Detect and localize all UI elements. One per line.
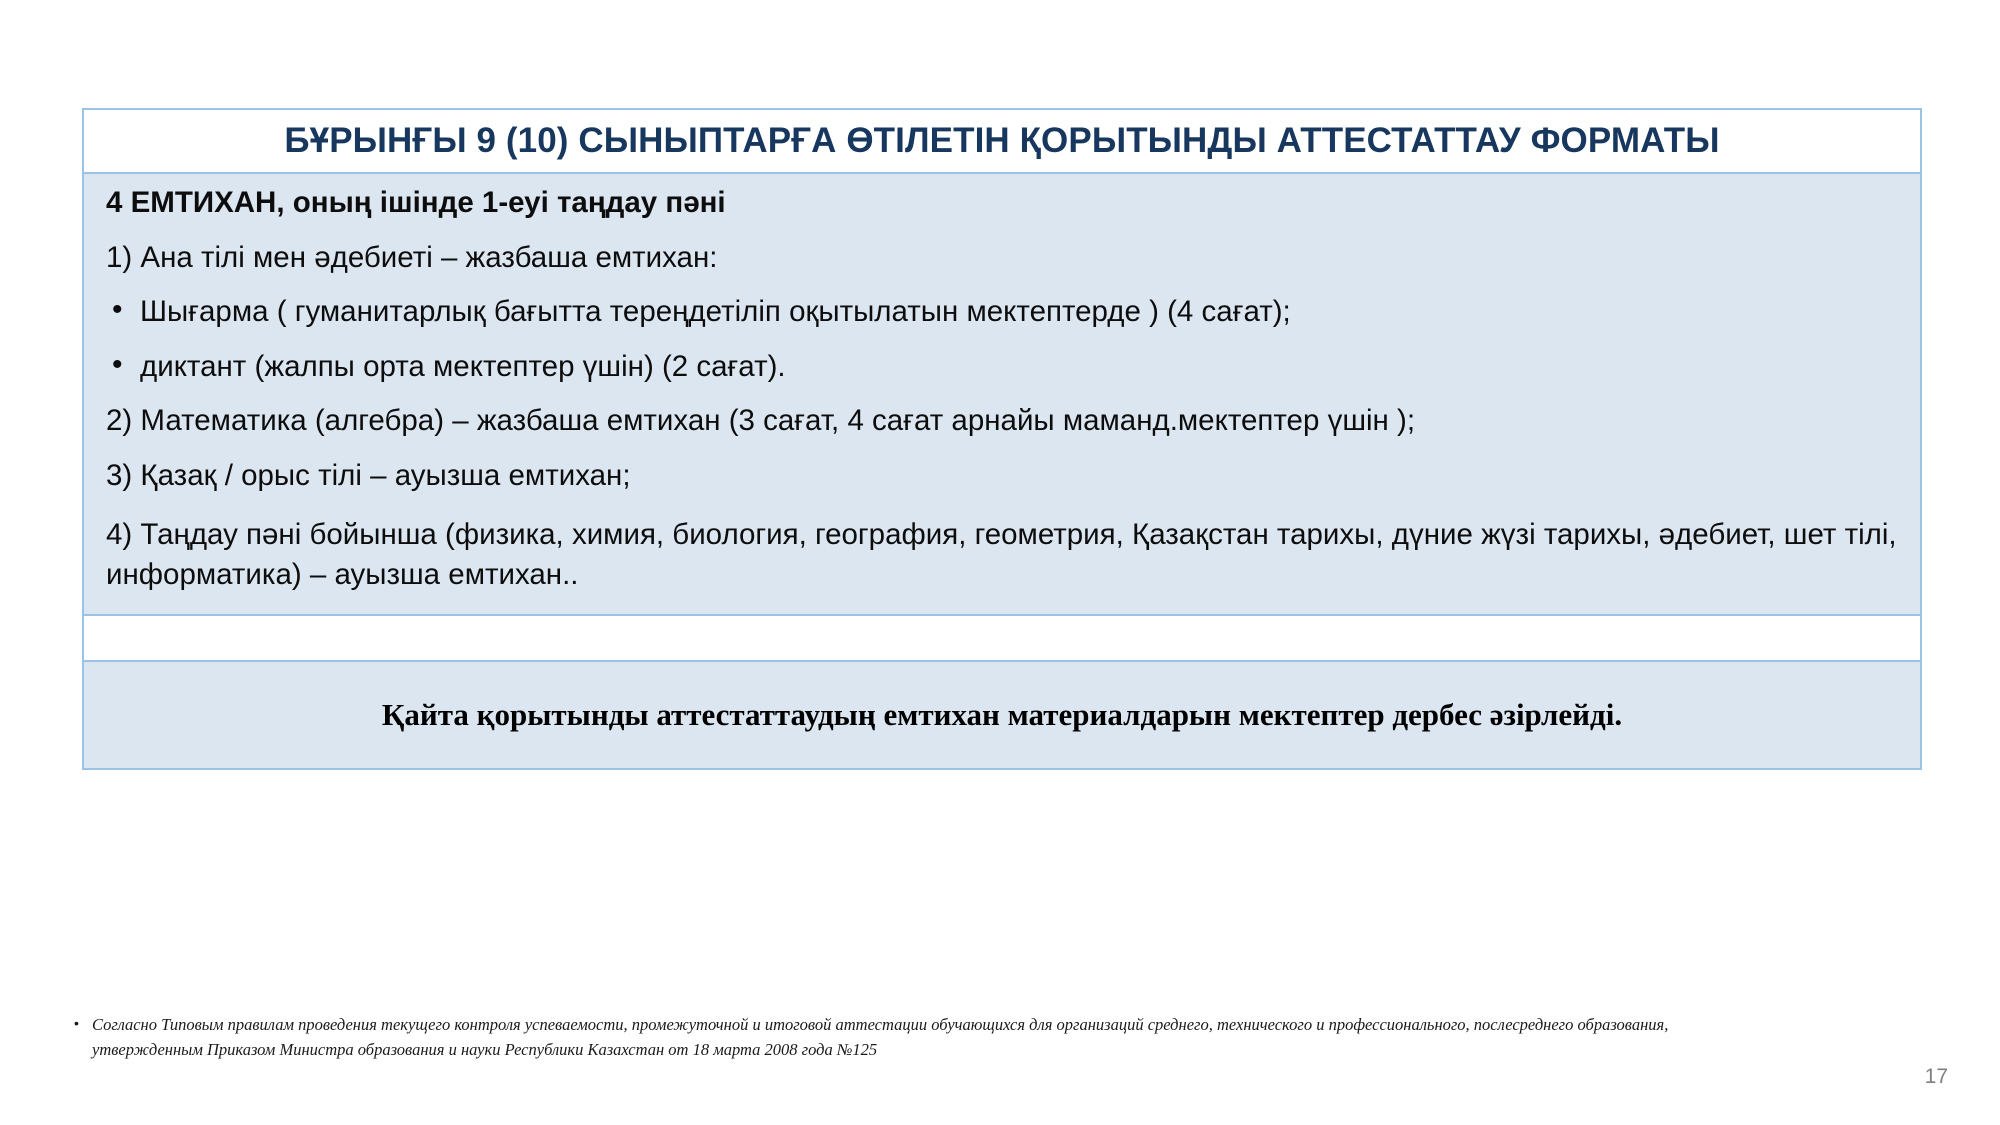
body-bullet-1-label: Шығарма ( гуманитарлық бағытта тереңдеті… [140, 295, 1291, 328]
body-item-1: 1) Ана тілі мен әдебиеті – жазбаша емтих… [106, 243, 1898, 273]
table-row-body: 4 ЕМТИХАН, оның ішінде 1-еуі таңдау пәні… [82, 174, 1922, 616]
body-bullet-2-label: диктант (жалпы орта мектептер үшін) (2 с… [140, 350, 786, 383]
footer-cell: Қайта қорытынды аттестаттаудың емтихан м… [82, 662, 1922, 770]
table-row-footer: Қайта қорытынды аттестаттаудың емтихан м… [82, 662, 1922, 770]
body-bullet-1: • Шығарма ( гуманитарлық бағытта тереңде… [106, 297, 1898, 327]
bullet-dot-icon: • [112, 295, 123, 325]
footnote-line-2: утвержденным Приказом Министра образован… [74, 1037, 1934, 1062]
body-heading: 4 ЕМТИХАН, оның ішінде 1-еуі таңдау пәні [106, 188, 1898, 218]
body-item-4: 4) Таңдау пәні бойынша (физика, химия, б… [106, 515, 1898, 594]
body-item-2: 2) Математика (алгебра) – жазбаша емтиха… [106, 406, 1898, 436]
spacer-cell [82, 616, 1922, 662]
page-number: 17 [1925, 1065, 1948, 1089]
footer-note: Қайта қорытынды аттестаттаудың емтихан м… [85, 698, 1919, 732]
footnote-line-1: Согласно Типовым правилам проведения тек… [74, 1012, 1934, 1037]
table-row-spacer [82, 616, 1922, 662]
title-cell: БҰРЫНҒЫ 9 (10) СЫНЫПТАРҒА ӨТІЛЕТІН ҚОРЫТ… [82, 108, 1922, 174]
body-cell: 4 ЕМТИХАН, оның ішінде 1-еуі таңдау пәні… [82, 174, 1922, 616]
page-title: БҰРЫНҒЫ 9 (10) СЫНЫПТАРҒА ӨТІЛЕТІН ҚОРЫТ… [85, 123, 1919, 160]
attestation-format-table: БҰРЫНҒЫ 9 (10) СЫНЫПТАРҒА ӨТІЛЕТІН ҚОРЫТ… [82, 108, 1922, 770]
footnote: • Согласно Типовым правилам проведения т… [74, 1012, 1934, 1062]
footnote-bullet-icon: • [74, 1013, 79, 1034]
body-item-3: 3) Қазақ / орыс тілі – ауызша емтихан; [106, 461, 1898, 491]
body-bullet-2: • диктант (жалпы орта мектептер үшін) (2… [106, 352, 1898, 382]
slide-canvas: { "slide": { "title": "БҰРЫНҒЫ 9 (10) СЫ… [0, 0, 2000, 1125]
bullet-dot-icon: • [112, 350, 123, 380]
table-row-title: БҰРЫНҒЫ 9 (10) СЫНЫПТАРҒА ӨТІЛЕТІН ҚОРЫТ… [82, 108, 1922, 174]
